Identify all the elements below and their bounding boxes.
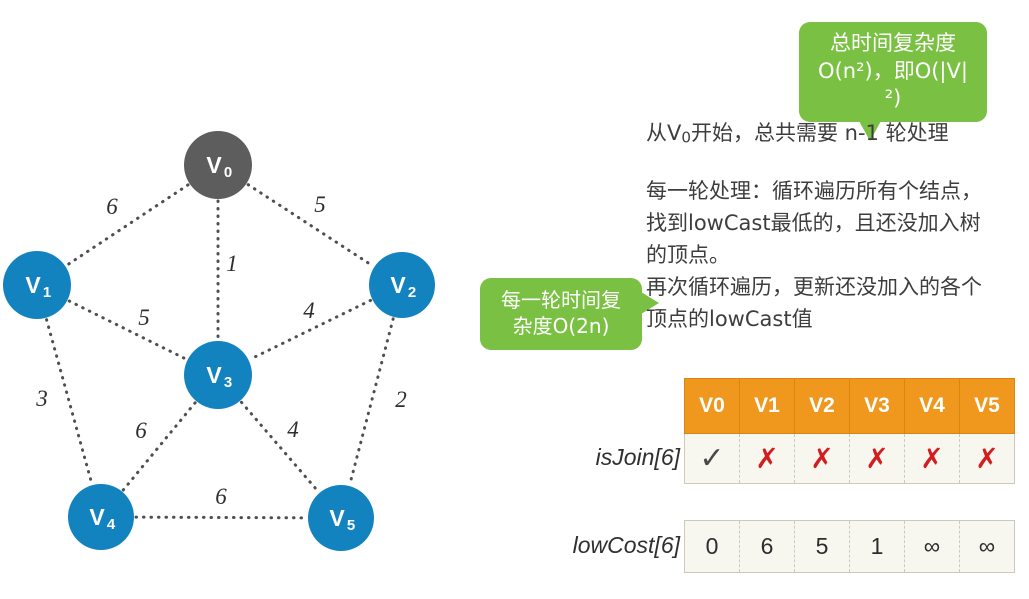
edge-weight-v4-v5: 6 [215, 484, 227, 509]
paragraph-update-lowcast: 再次循环遍历，更新还没加入的各个顶点的lowCast值 [646, 272, 998, 336]
lowcost-cell-4[interactable]: ∞ [905, 521, 960, 573]
edge-weight-v1-v3: 5 [138, 305, 150, 330]
isjoin-cell-v3[interactable]: ✗ [850, 434, 905, 484]
isjoin-header-v4: V4 [905, 379, 960, 434]
para1-subscript: 0 [681, 129, 691, 147]
edge-weight-v0-v2: 5 [314, 192, 326, 217]
node-subscript-v4: 4 [107, 516, 116, 533]
graph-edge-v3-v5 [241, 402, 318, 491]
isjoin-cell-v4[interactable]: ✗ [905, 434, 960, 484]
edge-weight-v3-v4: 6 [135, 418, 147, 443]
isjoin-header-v5: V5 [960, 379, 1015, 434]
right-panel: 总时间复杂度 O(n²)，即O(|V|²) 每一轮时间复 杂度O(2n) 从V0… [470, 0, 1029, 599]
node-subscript-v3: 3 [224, 374, 232, 391]
edge-weight-v2-v5: 2 [395, 387, 407, 412]
graph-panel: 6515436426 V0V1V2V3V4V5 [0, 0, 470, 599]
graph-edge-v1-v3 [69, 301, 186, 359]
callout-round-line1: 每一轮时间复 [490, 287, 632, 313]
graph-node-v0[interactable]: V0 [184, 131, 252, 199]
callout-total-line1: 总时间复杂度 [813, 30, 973, 58]
node-label-v4: V [89, 504, 105, 530]
node-subscript-v1: 1 [43, 284, 51, 301]
edge-weight-v1-v4: 3 [35, 386, 48, 411]
lowcost-row-label: lowCost[6] [490, 532, 680, 559]
isjoin-header-v1: V1 [740, 379, 795, 434]
graph-edge-v4-v5 [136, 517, 306, 518]
graph-node-v5[interactable]: V5 [308, 485, 374, 551]
node-label-v3: V [206, 362, 222, 388]
graph-svg: 6515436426 V0V1V2V3V4V5 [0, 0, 470, 599]
node-label-v1: V [25, 272, 41, 298]
paragraph-round-description: 每一轮处理：循环遍历所有个结点，找到lowCast最低的，且还没加入树的顶点。 [646, 176, 998, 272]
graph-edge-v3-v4 [123, 403, 195, 490]
graph-node-v3[interactable]: V3 [184, 341, 252, 409]
edge-weight-v0-v1: 6 [106, 194, 118, 219]
node-label-v2: V [390, 272, 406, 298]
edge-weight-v2-v3: 4 [303, 298, 315, 323]
lowcost-cell-3[interactable]: 1 [850, 521, 905, 573]
isjoin-table: V0V1V2V3V4V5 ✓✗✗✗✗✗ [684, 378, 1015, 484]
graph-node-v4[interactable]: V4 [68, 484, 134, 550]
graph-edge-v1-v4 [47, 320, 92, 484]
cross-icon-v2: ✗ [810, 442, 833, 475]
isjoin-header-v0: V0 [685, 379, 740, 434]
isjoin-cell-v0[interactable]: ✓ [685, 434, 740, 484]
graph-edge-v2-v5 [350, 319, 393, 484]
node-subscript-v2: 2 [408, 284, 416, 301]
callout-per-round-complexity: 每一轮时间复 杂度O(2n) [480, 278, 642, 350]
isjoin-value-row: ✓✗✗✗✗✗ [685, 434, 1015, 484]
edge-weight-v0-v3: 1 [226, 251, 238, 276]
graph-edge-v0-v1 [67, 185, 188, 265]
lowcost-cell-0[interactable]: 0 [685, 521, 740, 573]
lowcost-cell-5[interactable]: ∞ [960, 521, 1015, 573]
isjoin-cell-v1[interactable]: ✗ [740, 434, 795, 484]
node-label-v0: V [206, 152, 222, 178]
cross-icon-v4: ✗ [920, 442, 943, 475]
paragraph-start-rounds: 从V0开始，总共需要 n-1 轮处理 [646, 118, 1018, 150]
cross-icon-v5: ✗ [975, 442, 998, 475]
graph-edge-v0-v2 [248, 185, 373, 266]
isjoin-cell-v2[interactable]: ✗ [795, 434, 850, 484]
cross-icon-v1: ✗ [755, 442, 778, 475]
isjoin-row-label: isJoin[6] [520, 444, 680, 471]
lowcost-cell-1[interactable]: 6 [740, 521, 795, 573]
node-label-v5: V [329, 505, 345, 531]
isjoin-header-v3: V3 [850, 379, 905, 434]
check-icon-v0: ✓ [699, 441, 724, 476]
isjoin-cell-v5[interactable]: ✗ [960, 434, 1015, 484]
callout-round-line2: 杂度O(2n) [490, 313, 632, 339]
cross-icon-v3: ✗ [865, 442, 888, 475]
node-subscript-v5: 5 [347, 517, 355, 534]
isjoin-header-v2: V2 [795, 379, 850, 434]
isjoin-header-row: V0V1V2V3V4V5 [685, 379, 1015, 434]
edge-weight-v3-v5: 4 [287, 417, 299, 442]
graph-node-v1[interactable]: V1 [3, 251, 71, 319]
callout-total-line2: O(n²)，即O(|V|²) [813, 58, 973, 113]
graph-node-v2[interactable]: V2 [369, 252, 435, 318]
lowcost-cell-2[interactable]: 5 [795, 521, 850, 573]
node-subscript-v0: 0 [224, 164, 232, 181]
lowcost-value-row: 0651∞∞ [685, 521, 1015, 573]
para1-before: 从V [646, 121, 681, 145]
callout-total-complexity: 总时间复杂度 O(n²)，即O(|V|²) [799, 22, 987, 122]
para1-after: 开始，总共需要 n-1 轮处理 [691, 121, 949, 145]
lowcost-table: 0651∞∞ [684, 520, 1015, 573]
